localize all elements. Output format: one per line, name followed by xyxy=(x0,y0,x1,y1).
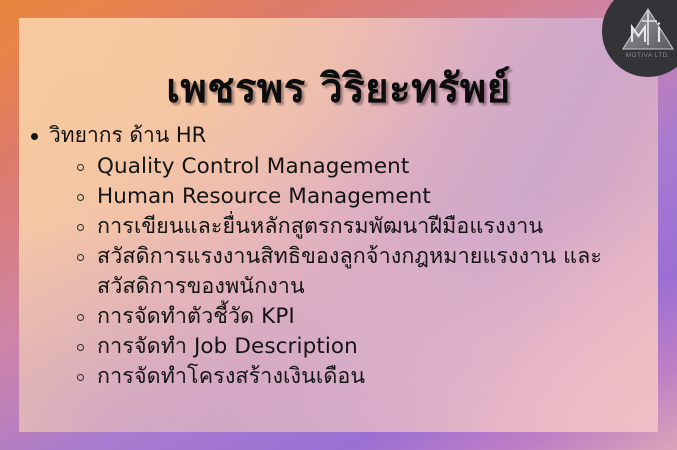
list-item: การเขียนและยื่นหลักสูตรกรมพัฒนาฝีมือแรงง… xyxy=(77,212,646,241)
list-item: Quality Control Management xyxy=(77,152,646,181)
list-item: สวัสดิการแรงงานสิทธิของลูกจ้างกฎหมายแรงง… xyxy=(77,242,646,300)
list-item: Human Resource Management xyxy=(77,182,646,211)
list-item-label: Quality Control Management xyxy=(97,152,409,181)
bullet-circle-icon xyxy=(77,224,84,231)
bullet-list: วิทยากร ด้าน HR Quality Control Manageme… xyxy=(19,122,646,393)
motiva-triangle-icon xyxy=(621,7,675,51)
bullet-disc-icon xyxy=(31,133,38,140)
bullet-circle-icon xyxy=(77,344,84,351)
list-item: การจัดทำโครงสร้างเงินเดือน xyxy=(77,362,646,391)
list-item-label: การจัดทำโครงสร้างเงินเดือน xyxy=(97,362,365,391)
list-item-label: การเขียนและยื่นหลักสูตรกรมพัฒนาฝีมือแรงง… xyxy=(97,212,543,241)
list-item-label: การจัดทำ Job Description xyxy=(97,332,358,361)
list-item: การจัดทำตัวชี้วัด KPI xyxy=(77,302,646,331)
sub-bullet-list: Quality Control Management Human Resourc… xyxy=(19,152,646,392)
list-item-label: การจัดทำตัวชี้วัด KPI xyxy=(97,302,295,331)
list-item: วิทยากร ด้าน HR xyxy=(19,122,646,150)
bullet-circle-icon xyxy=(77,314,84,321)
bullet-circle-icon xyxy=(77,164,84,171)
page-title: เพชรพร วิริยะทรัพย์ xyxy=(19,56,658,120)
bullet-circle-icon xyxy=(77,194,84,201)
logo-wordmark: MOTIVA LTD. xyxy=(626,52,670,59)
bullet-circle-icon xyxy=(77,254,84,261)
list-item-label: สวัสดิการแรงงานสิทธิของลูกจ้างกฎหมายแรงง… xyxy=(97,242,646,300)
presentation-slide: เพชรพร วิริยะทรัพย์ วิทยากร ด้าน HR Qual… xyxy=(0,0,677,450)
list-item-label: วิทยากร ด้าน HR xyxy=(49,122,206,150)
list-item-label: Human Resource Management xyxy=(97,182,431,211)
bullet-circle-icon xyxy=(77,374,84,381)
list-item: การจัดทำ Job Description xyxy=(77,332,646,361)
slide-content-panel: เพชรพร วิริยะทรัพย์ วิทยากร ด้าน HR Qual… xyxy=(19,18,658,432)
